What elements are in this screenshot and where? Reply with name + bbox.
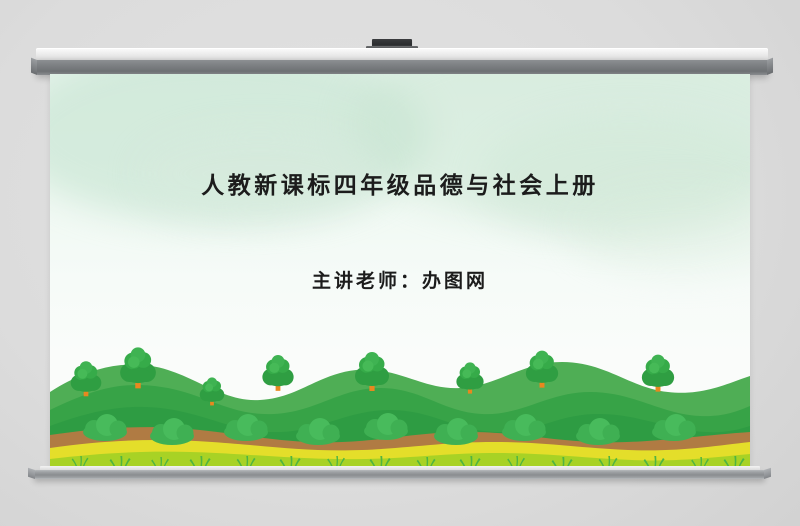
slide-subtitle: 主讲老师：办图网 (50, 266, 750, 293)
watercolor-wash (350, 74, 750, 224)
slide-canvas: 人教新课标四年级品德与社会上册 主讲老师：办图网 (50, 74, 750, 470)
screen-weight-bar (34, 470, 765, 479)
screen-housing-bottom (36, 60, 768, 75)
projector-screen: 人教新课标四年级品德与社会上册 主讲老师：办图网 (0, 0, 800, 526)
watercolor-wash (50, 74, 430, 224)
landscape-illustration (50, 340, 750, 470)
slide-title: 人教新课标四年级品德与社会上册 (50, 166, 750, 200)
